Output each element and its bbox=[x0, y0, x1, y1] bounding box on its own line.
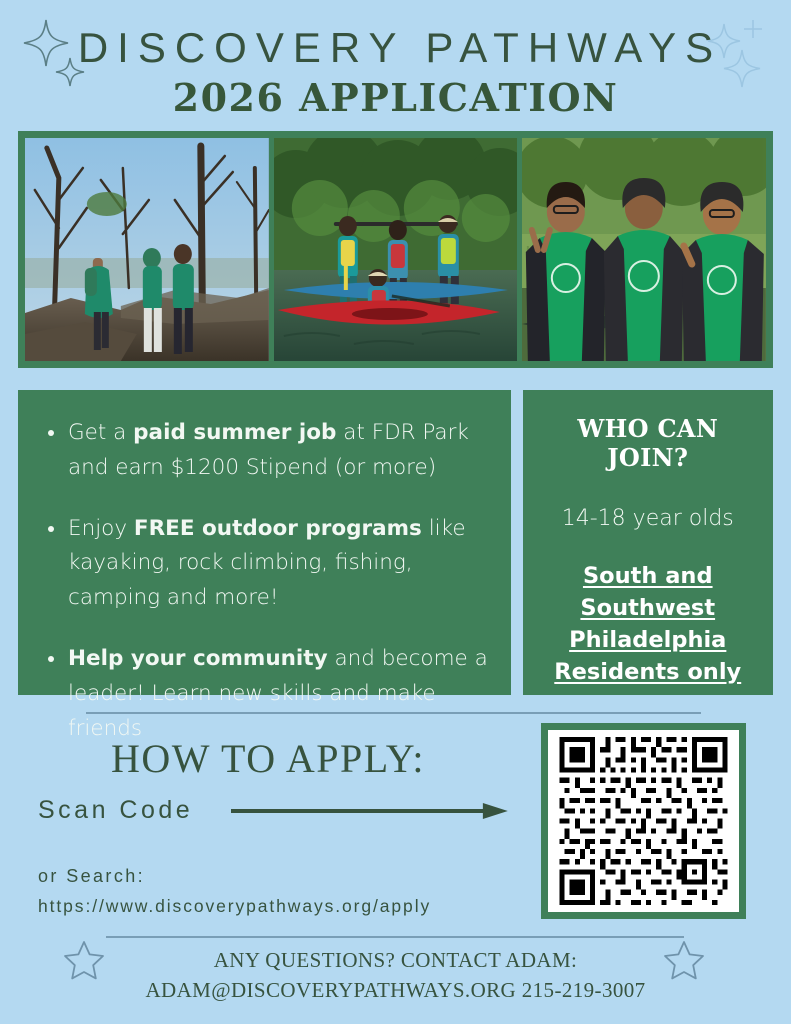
content-panels: Get a paid summer job at FDR Park and ea… bbox=[18, 390, 773, 695]
footer-line-2: ADAM@DISCOVERYPATHWAYS.ORG 215-219-3007 bbox=[0, 976, 791, 1006]
eligible-area-text: South and Southwest Philadelphia Residen… bbox=[535, 561, 761, 689]
list-item: Get a paid summer job at FDR Park and ea… bbox=[44, 416, 489, 486]
divider-bottom bbox=[106, 936, 684, 938]
photo-kayaking bbox=[274, 138, 518, 361]
list-item: Enjoy FREE outdoor programs like kayakin… bbox=[44, 512, 489, 616]
benefit-bold: FREE outdoor programs bbox=[134, 516, 422, 541]
area-line-1: South and bbox=[583, 563, 713, 589]
apply-url[interactable]: https://www.discoverypathways.org/apply bbox=[38, 892, 431, 921]
flyer-header: DISCOVERY PATHWAYS 2026 APPLICATION bbox=[0, 24, 791, 117]
area-line-2: Southwest bbox=[580, 595, 715, 621]
benefit-bold: Help your community bbox=[68, 646, 328, 671]
page-title: DISCOVERY PATHWAYS bbox=[0, 24, 791, 71]
qr-code-icon[interactable] bbox=[548, 730, 739, 912]
or-search-block: or Search: https://www.discoverypathways… bbox=[38, 862, 431, 921]
scan-code-row: Scan Code bbox=[38, 796, 508, 825]
benefit-bold: paid summer job bbox=[133, 420, 336, 445]
photo-hiking bbox=[25, 138, 269, 361]
arrow-right-icon bbox=[231, 801, 508, 821]
benefit-lead: Enjoy bbox=[68, 516, 134, 541]
benefits-list: Get a paid summer job at FDR Park and ea… bbox=[44, 416, 489, 747]
list-item: Help your community and become a leader!… bbox=[44, 642, 489, 746]
who-can-join-panel: WHO CAN JOIN? 14-18 year olds South and … bbox=[523, 390, 773, 695]
area-line-4: Residents only bbox=[554, 659, 741, 685]
scan-code-label: Scan Code bbox=[38, 796, 193, 825]
page-subtitle: 2026 APPLICATION bbox=[0, 79, 791, 117]
how-to-apply-heading: HOW TO APPLY: bbox=[18, 735, 518, 782]
divider-top bbox=[86, 712, 701, 714]
benefit-lead: Get a bbox=[68, 420, 133, 445]
area-line-3: Philadelphia bbox=[569, 627, 726, 653]
footer-contact: ANY QUESTIONS? CONTACT ADAM: ADAM@DISCOV… bbox=[0, 946, 791, 1006]
who-can-join-title: WHO CAN JOIN? bbox=[535, 414, 761, 472]
age-range-text: 14-18 year olds bbox=[535, 506, 761, 531]
flyer-page: DISCOVERY PATHWAYS 2026 APPLICATION bbox=[0, 0, 791, 1024]
or-search-label: or Search: bbox=[38, 866, 145, 886]
qr-code-frame bbox=[541, 723, 746, 919]
photo-strip bbox=[18, 131, 773, 368]
photo-group-portrait bbox=[522, 138, 766, 361]
benefits-panel: Get a paid summer job at FDR Park and ea… bbox=[18, 390, 511, 695]
footer-line-1: ANY QUESTIONS? CONTACT ADAM: bbox=[0, 946, 791, 976]
